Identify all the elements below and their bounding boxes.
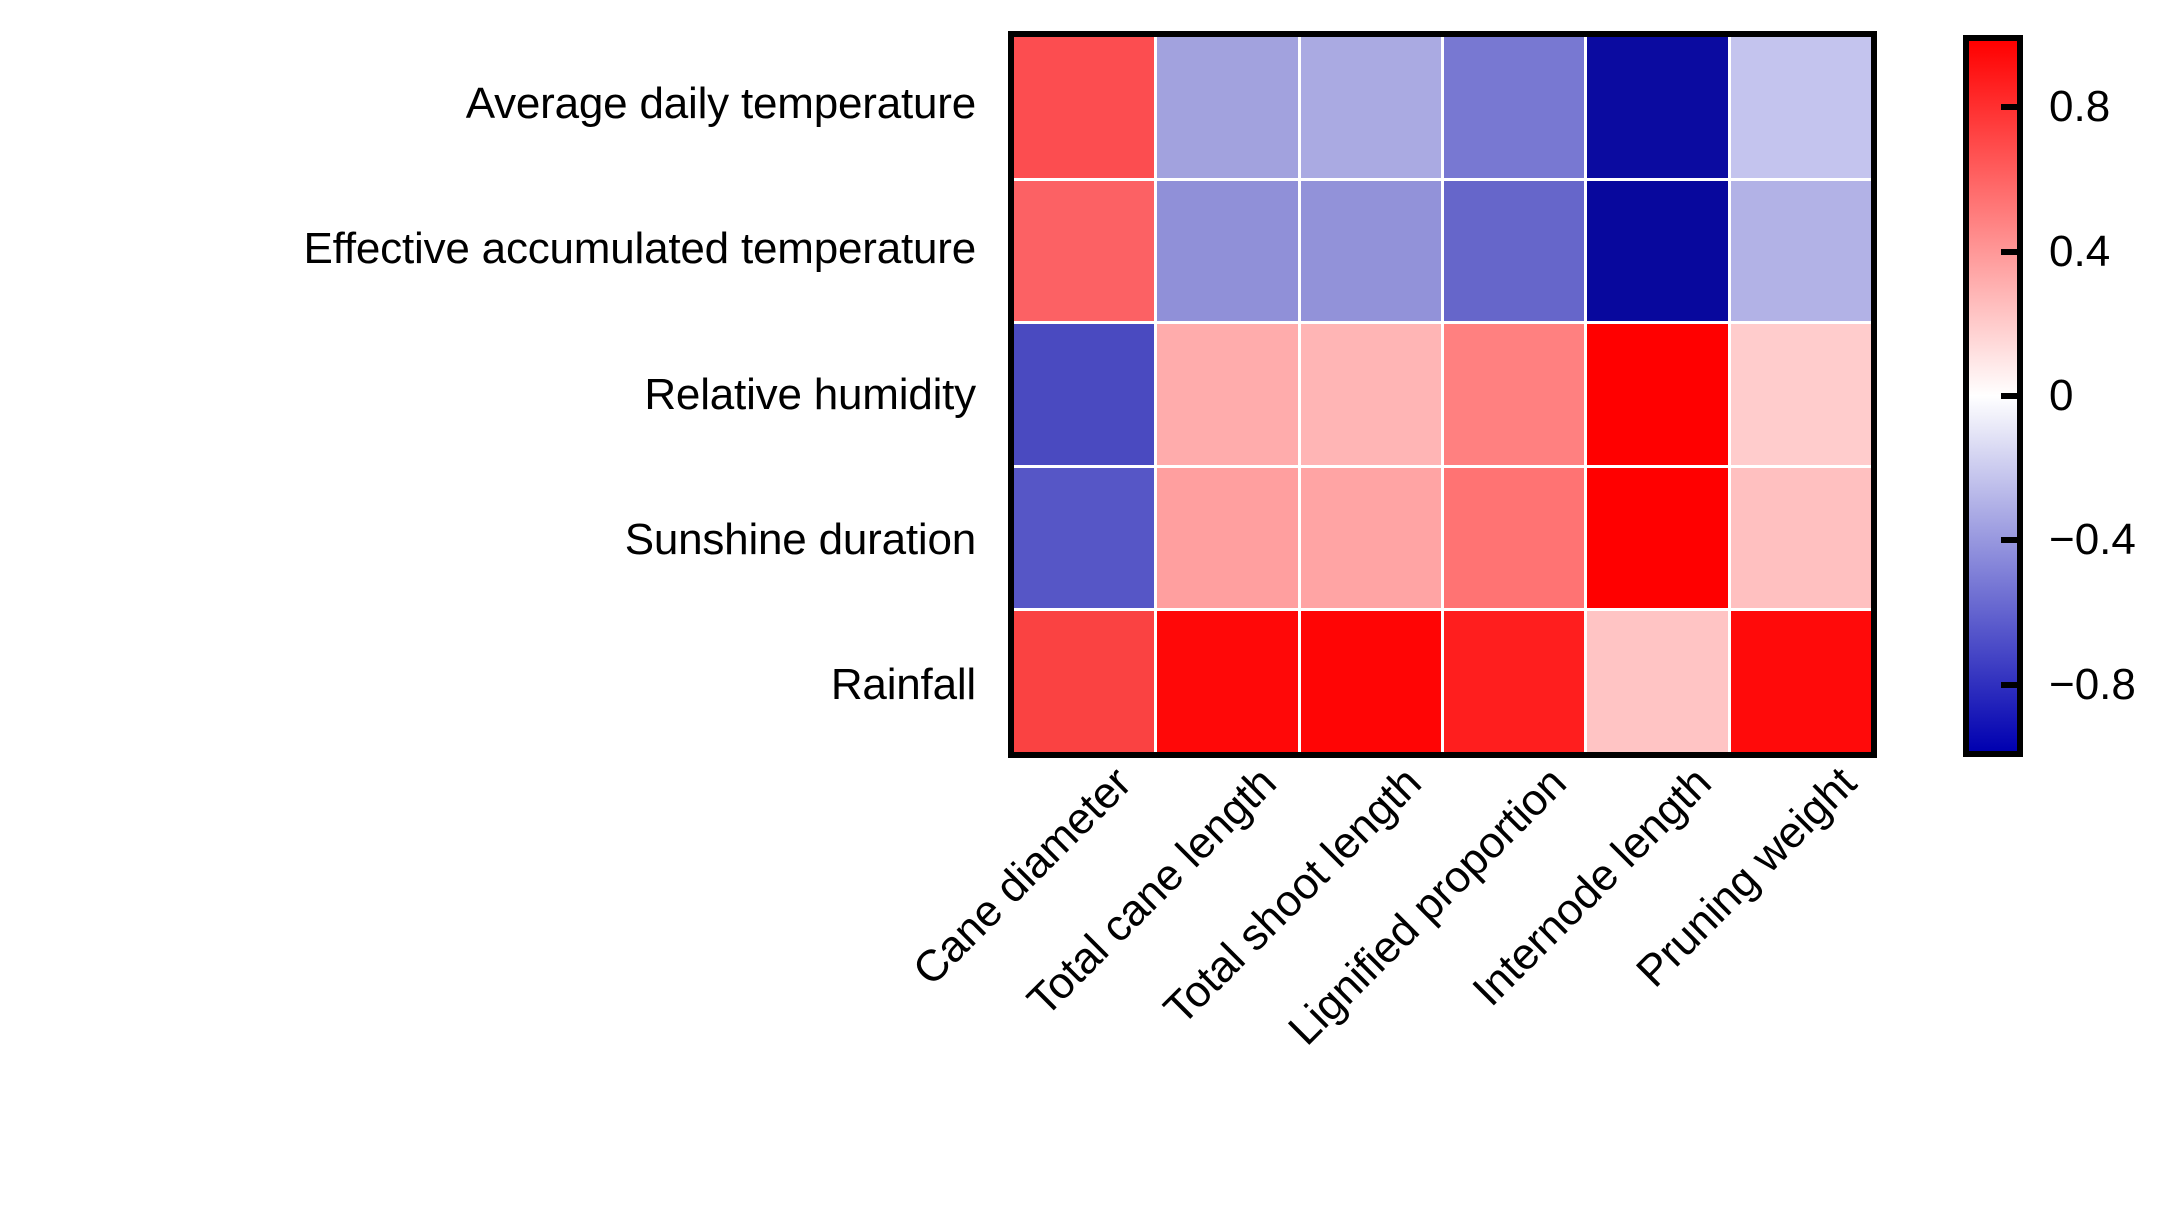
colorbar-legend: 0.80.40−0.4−0.8 xyxy=(1963,35,2023,757)
heatmap-cell xyxy=(1157,37,1297,178)
heatmap-cell xyxy=(1157,324,1297,465)
heatmap-cell xyxy=(1731,37,1871,178)
heatmap-cell xyxy=(1731,468,1871,609)
heatmap-cell xyxy=(1587,468,1727,609)
heatmap-cell xyxy=(1301,181,1441,322)
colorbar-tick-label-1: 0.4 xyxy=(2049,230,2110,274)
y-axis-labels: Average daily temperature Effective accu… xyxy=(0,31,992,758)
heatmap-cell xyxy=(1301,611,1441,752)
heatmap-cell xyxy=(1301,324,1441,465)
heatmap-cell xyxy=(1014,611,1154,752)
y-axis-label-2: Relative humidity xyxy=(0,322,992,467)
x-axis-label-2: Total shoot length xyxy=(1155,758,1432,1035)
y-axis-label-4: Rainfall xyxy=(0,613,992,758)
x-axis-label-1: Total cane length xyxy=(1018,758,1286,1026)
heatmap-cell xyxy=(1731,611,1871,752)
heatmap-cell xyxy=(1444,37,1584,178)
heatmap-cell xyxy=(1157,181,1297,322)
x-axis-labels: Cane diameterTotal cane lengthTotal shoo… xyxy=(1008,758,1877,1158)
heatmap-cell xyxy=(1014,37,1154,178)
heatmap-cell xyxy=(1444,611,1584,752)
x-axis-label-3: Lignified proportion xyxy=(1279,758,1576,1055)
heatmap-cell xyxy=(1301,37,1441,178)
heatmap-figure: Average daily temperature Effective accu… xyxy=(0,0,2157,1210)
heatmap-cell xyxy=(1731,181,1871,322)
heatmap-cell xyxy=(1587,611,1727,752)
y-axis-label-1: Effective accumulated temperature xyxy=(0,176,992,321)
heatmap-cell xyxy=(1301,468,1441,609)
heatmap-cell xyxy=(1587,181,1727,322)
heatmap-cell xyxy=(1444,181,1584,322)
colorbar-tick-label-4: −0.8 xyxy=(2049,663,2136,707)
colorbar-tick xyxy=(2001,249,2017,255)
heatmap-cell xyxy=(1587,324,1727,465)
heatmap-cell xyxy=(1014,468,1154,609)
colorbar-tick-label-2: 0 xyxy=(2049,374,2073,418)
heatmap-cell xyxy=(1587,37,1727,178)
colorbar-tick xyxy=(2001,682,2017,688)
heatmap-cell xyxy=(1014,181,1154,322)
colorbar-tick-label-0: 0.8 xyxy=(2049,85,2110,129)
colorbar-tick xyxy=(2001,537,2017,543)
colorbar-tick-label-3: −0.4 xyxy=(2049,518,2136,562)
y-axis-label-3: Sunshine duration xyxy=(0,467,992,612)
heatmap-cell xyxy=(1731,324,1871,465)
heatmap-cell xyxy=(1444,468,1584,609)
heatmap-cell xyxy=(1157,611,1297,752)
colorbar-tick xyxy=(2001,104,2017,110)
heatmap-plot-area xyxy=(1008,31,1877,758)
heatmap-cell xyxy=(1157,468,1297,609)
colorbar-tick xyxy=(2001,393,2017,399)
heatmap-cell xyxy=(1014,324,1154,465)
heatmap-grid xyxy=(1014,37,1871,752)
y-axis-label-0: Average daily temperature xyxy=(0,31,992,176)
heatmap-cell xyxy=(1444,324,1584,465)
